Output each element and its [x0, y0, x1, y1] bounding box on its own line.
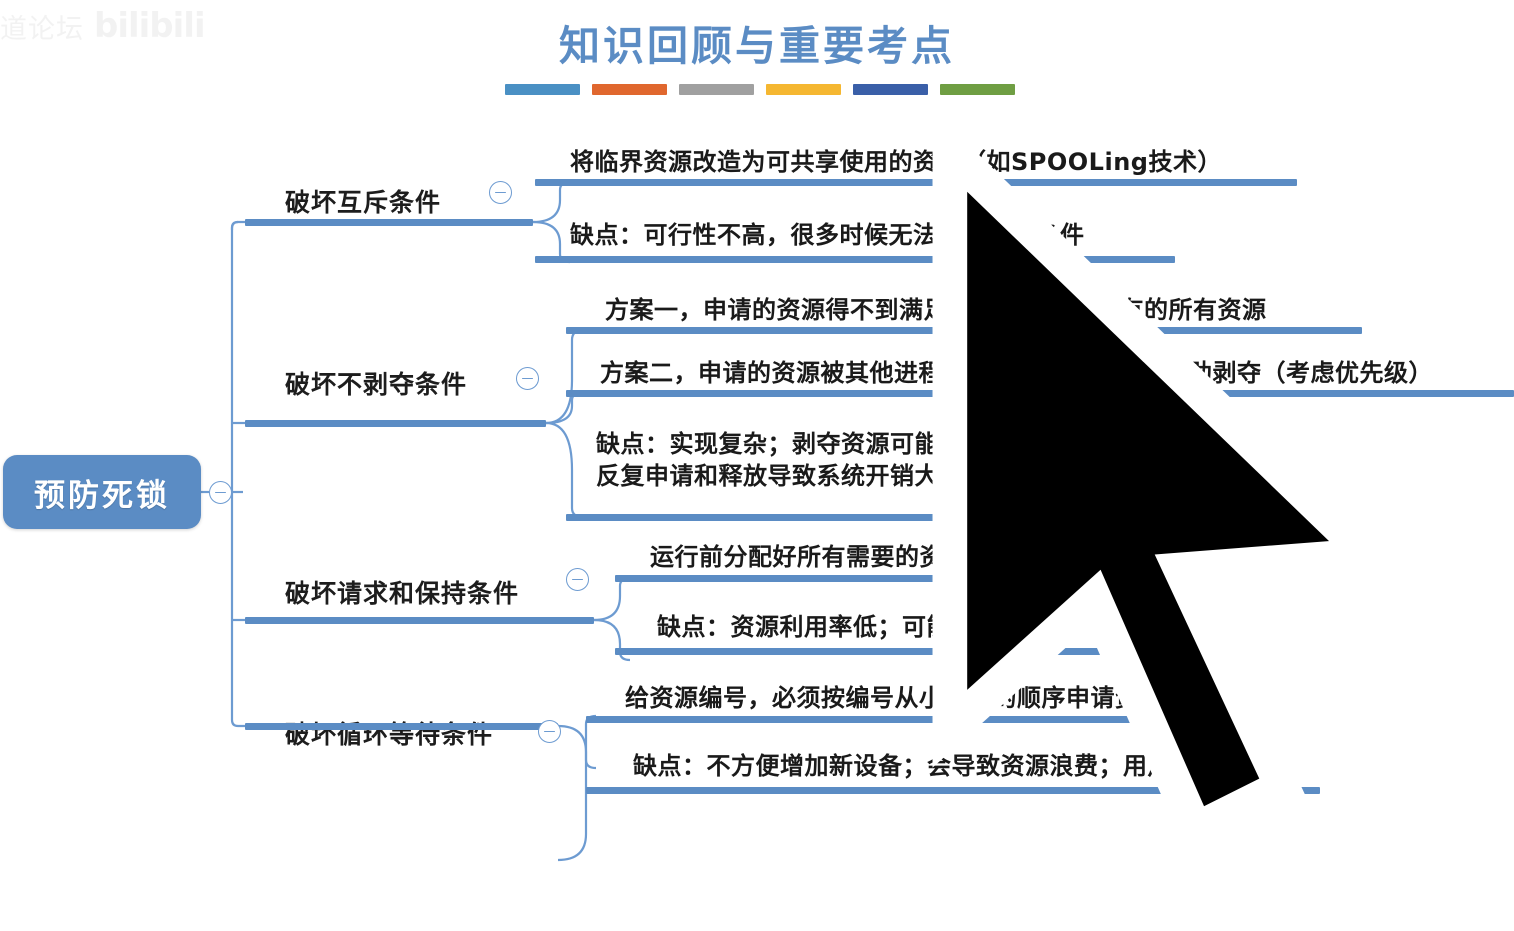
- leaf-label-4-1[interactable]: 给资源编号，必须按编号从小到大的顺序申请资源: [625, 682, 1164, 714]
- leaf-label-3-1[interactable]: 运行前分配好所有需要的资源，之后一直保持: [650, 541, 1140, 573]
- leaf-underline-3-1: [615, 575, 1210, 582]
- collapse-minus-icon: [544, 731, 555, 733]
- branch-label-4[interactable]: 破坏循环等待条件: [285, 715, 493, 751]
- leaf-underline-2-2: [566, 390, 1514, 397]
- branch-label-3[interactable]: 破坏请求和保持条件: [285, 574, 519, 610]
- leaf-label-2-2[interactable]: 方案二，申请的资源被其他进程占用时，由操作系统协助剥夺（考虑优先级）: [600, 357, 1433, 389]
- mindmap-canvas: 预防死锁 破坏互斥条件 将临界资源改造为可共享使用的资源（如SPOOLing技术…: [0, 0, 1514, 809]
- leaf-label-1-2[interactable]: 缺点：可行性不高，很多时候无法破坏互斥条件: [570, 219, 1085, 251]
- leaf-label-2-3[interactable]: 缺点：实现复杂；剥夺资源可能导致部分工作失效； 反复申请和释放导致系统开销大；可…: [596, 428, 1160, 492]
- leaf-underline-4-2: [586, 787, 1320, 794]
- collapse-minus-icon: [215, 492, 226, 494]
- leaf-underline-1-2: [535, 256, 1175, 263]
- leaf-underline-3-2: [615, 648, 1149, 655]
- leaf-underline-2-1: [566, 327, 1362, 334]
- leaf-label-3-2[interactable]: 缺点：资源利用率低；可能导致饥饿: [657, 611, 1049, 643]
- branch-collapse-toggle-4[interactable]: [538, 720, 561, 743]
- branch-collapse-toggle-2[interactable]: [516, 367, 539, 390]
- branch-underline-2: [245, 420, 546, 427]
- branch-label-1[interactable]: 破坏互斥条件: [285, 183, 441, 219]
- root-collapse-toggle[interactable]: [209, 481, 232, 504]
- collapse-minus-icon: [495, 192, 506, 194]
- branch-underline-4: [245, 723, 558, 730]
- collapse-minus-icon: [572, 579, 583, 581]
- leaf-underline-1-1: [535, 179, 1297, 186]
- branch-underline-1: [245, 219, 533, 226]
- branch-collapse-toggle-3[interactable]: [566, 568, 589, 591]
- leaf-underline-2-3: [566, 514, 1206, 521]
- leaf-underline-4-1: [586, 716, 1208, 723]
- leaf-label-1-1[interactable]: 将临界资源改造为可共享使用的资源（如SPOOLing技术）: [570, 146, 1222, 178]
- branch-underline-3: [245, 617, 594, 624]
- leaf-label-4-2[interactable]: 缺点：不方便增加新设备；会导致资源浪费；用户编程麻烦: [633, 750, 1270, 782]
- leaf-label-2-1[interactable]: 方案一，申请的资源得不到满足时，立即释放拥有的所有资源: [605, 294, 1267, 326]
- collapse-minus-icon: [522, 378, 533, 380]
- root-node[interactable]: 预防死锁: [3, 455, 201, 529]
- branch-label-2[interactable]: 破坏不剥夺条件: [285, 365, 467, 401]
- root-node-label: 预防死锁: [34, 470, 170, 515]
- branch-collapse-toggle-1[interactable]: [489, 181, 512, 204]
